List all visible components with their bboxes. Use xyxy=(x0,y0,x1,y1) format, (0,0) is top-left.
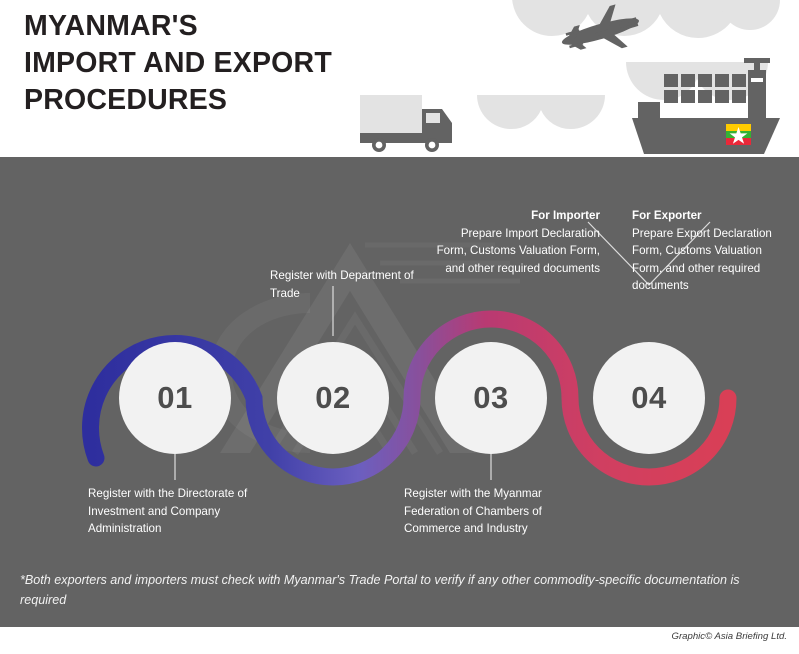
step-circle-3[interactable]: 03 xyxy=(435,342,547,454)
myanmar-flag-icon xyxy=(726,124,751,145)
graphic-credit: Graphic© Asia Briefing Ltd. xyxy=(672,631,788,642)
step-circle-4[interactable]: 04 xyxy=(593,342,705,454)
step-label-4-exporter: For Exporter Prepare Export Declaration … xyxy=(632,207,792,295)
header-band: MYANMAR'S IMPORT AND EXPORT PROCEDURES xyxy=(0,0,799,163)
infographic-root: MYANMAR'S IMPORT AND EXPORT PROCEDURES xyxy=(0,0,799,654)
step-label-4-exporter-text: Prepare Export Declaration Form, Customs… xyxy=(632,227,772,293)
step-label-2-text: Register with Department of Trade xyxy=(270,269,414,300)
step-circle-2[interactable]: 02 xyxy=(277,342,389,454)
cloud-icon xyxy=(455,95,605,129)
step-number-2: 02 xyxy=(315,380,350,416)
step-label-4-importer: For Importer Prepare Import Declaration … xyxy=(430,207,600,277)
page-title: MYANMAR'S IMPORT AND EXPORT PROCEDURES xyxy=(24,8,384,119)
step-label-4-exporter-heading: For Exporter xyxy=(632,207,792,225)
step-label-1-text: Register with the Directorate of Investm… xyxy=(88,487,247,535)
step-label-4-importer-heading: For Importer xyxy=(430,207,600,225)
title-line-3: PROCEDURES xyxy=(24,82,384,119)
title-line-1: MYANMAR'S xyxy=(24,8,384,45)
step-number-1: 01 xyxy=(157,380,192,416)
step-number-3: 03 xyxy=(473,380,508,416)
step-label-3-text: Register with the Myanmar Federation of … xyxy=(404,487,542,535)
title-line-2: IMPORT AND EXPORT xyxy=(24,45,384,82)
step-number-4: 04 xyxy=(631,380,666,416)
step-label-2: Register with Department of Trade xyxy=(270,267,420,302)
footnote-text: *Both exporters and importers must check… xyxy=(20,573,740,607)
step-label-4-importer-text: Prepare Import Declaration Form, Customs… xyxy=(437,227,600,275)
step-label-1: Register with the Directorate of Investm… xyxy=(88,485,288,538)
footnote: *Both exporters and importers must check… xyxy=(20,570,765,611)
body-panel: 01 02 03 04 Register with Department of … xyxy=(0,163,799,627)
step-circle-1[interactable]: 01 xyxy=(119,342,231,454)
graphic-credit-text: Graphic© Asia Briefing Ltd. xyxy=(672,631,788,642)
step-label-3: Register with the Myanmar Federation of … xyxy=(404,485,584,538)
